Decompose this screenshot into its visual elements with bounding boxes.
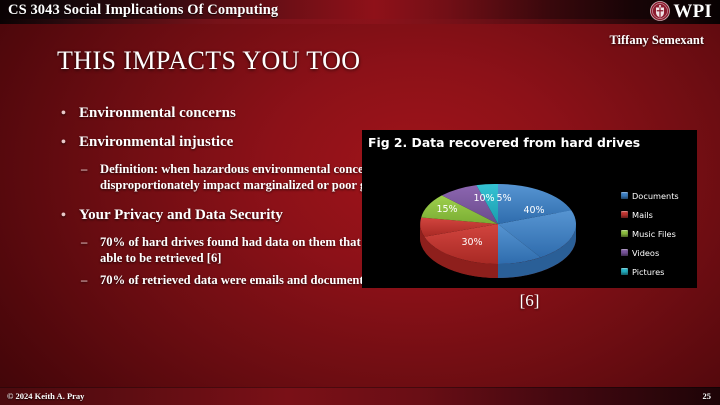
sub-bullet-item: – Definition: when hazardous environment…: [58, 162, 400, 193]
legend-item: Videos: [621, 243, 693, 262]
chart-legend: Documents Mails Music Files Videos Pictu…: [621, 186, 693, 281]
bullet-text: Environmental concerns: [79, 105, 236, 121]
pie-label-documents: 40%: [523, 205, 544, 216]
bullet-marker: –: [81, 235, 87, 251]
pie-label-music-files: 15%: [436, 204, 457, 215]
page-number: 25: [703, 391, 712, 401]
legend-swatch-documents: [621, 192, 628, 199]
legend-label: Videos: [632, 248, 659, 258]
course-title: CS 3043 Social Implications Of Computing: [8, 2, 278, 19]
pie-label-mails: 30%: [461, 237, 482, 248]
slide-title: THIS IMPACTS YOU TOO: [57, 46, 360, 76]
sub-bullet-item: – 70% of retrieved data were emails and …: [58, 273, 400, 289]
bullet-marker: –: [81, 273, 87, 289]
bullet-marker: •: [61, 133, 66, 152]
bullet-text: Environmental injustice: [79, 134, 233, 150]
pie-chart-svg: 40% 30% 15% 10% 5%: [410, 162, 585, 280]
figure-panel: Fig 2. Data recovered from hard drives: [362, 130, 697, 288]
pie-chart: 40% 30% 15% 10% 5%: [410, 162, 585, 280]
legend-item: Music Files: [621, 224, 693, 243]
bullet-item: • Your Privacy and Data Security: [58, 206, 358, 225]
figure-caption: [6]: [362, 291, 697, 311]
legend-item: Documents: [621, 186, 693, 205]
sub-bullet-item: – 70% of hard drives found had data on t…: [58, 235, 400, 266]
slide-header-band: CS 3043 Social Implications Of Computing…: [0, 0, 720, 24]
bullet-text: Your Privacy and Data Security: [79, 207, 283, 223]
presenter-name: Tiffany Semexant: [609, 33, 704, 48]
bullet-marker: –: [81, 162, 87, 178]
bullet-item: • Environmental injustice: [58, 133, 358, 152]
legend-swatch-mails: [621, 211, 628, 218]
legend-swatch-videos: [621, 249, 628, 256]
wpi-wordmark: WPI: [673, 2, 712, 21]
chart-title: Fig 2. Data recovered from hard drives: [368, 135, 640, 150]
bullet-text: 70% of hard drives found had data on the…: [100, 235, 384, 265]
slide-footer-band: © 2024 Keith A. Pray 25: [0, 387, 720, 405]
slide-canvas: CS 3043 Social Implications Of Computing…: [0, 0, 720, 405]
legend-label: Music Files: [632, 229, 676, 239]
bullet-marker: •: [61, 206, 66, 225]
legend-swatch-pictures: [621, 268, 628, 275]
legend-swatch-music-files: [621, 230, 628, 237]
bullet-item: • Environmental concerns: [58, 104, 358, 123]
legend-item: Mails: [621, 205, 693, 224]
bullet-marker: •: [61, 104, 66, 123]
bullet-list: • Environmental concerns • Environmental…: [58, 104, 358, 296]
legend-label: Documents: [632, 191, 679, 201]
legend-item: Pictures: [621, 262, 693, 281]
wpi-seal-icon: [650, 1, 670, 21]
pie-label-videos: 10%: [473, 193, 494, 204]
pie-label-pictures: 5%: [496, 193, 511, 204]
legend-label: Pictures: [632, 267, 664, 277]
bullet-text: Definition: when hazardous environmental…: [100, 162, 397, 192]
wpi-logo: WPI: [650, 1, 712, 21]
legend-label: Mails: [632, 210, 653, 220]
copyright-notice: © 2024 Keith A. Pray: [7, 391, 84, 401]
bullet-text: 70% of retrieved data were emails and do…: [100, 273, 386, 287]
